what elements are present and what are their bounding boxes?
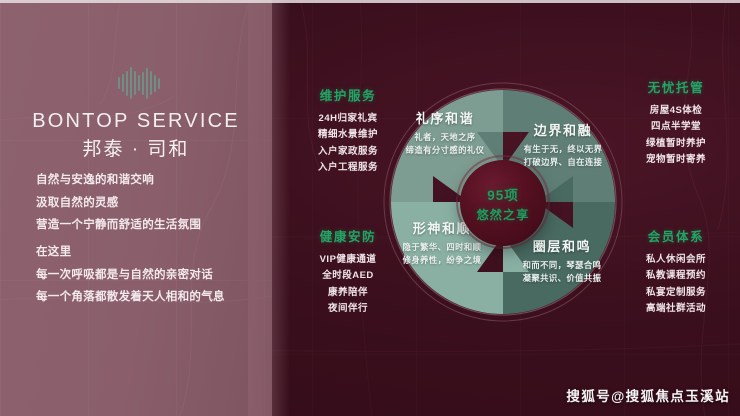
brand-logo-icon <box>118 66 160 100</box>
brand-name-cn: 邦泰 · 司和 <box>0 134 272 161</box>
cluster-membership: 会员体系 私人休闲会所 私教课程预约 私宴定制服务 高端社群活动 <box>617 226 735 317</box>
lead-line: 自然与安逸的和谐交响 <box>36 172 266 189</box>
hub-label: 悠然之享 <box>477 206 530 223</box>
brand-name-en: BONTOP SERVICE <box>0 110 272 133</box>
top-accent-rule <box>0 0 740 3</box>
list-item: 宠物暂时寄养 <box>617 152 735 168</box>
watermark: 搜狐号@搜狐焦点玉溪站 <box>566 385 730 405</box>
hub-count: 95项 <box>487 184 519 204</box>
list-item: 房屋4S体检 <box>617 103 735 119</box>
list-item: 私人休闲会所 <box>617 252 735 268</box>
lead-line: 营造一个宁静而舒适的生活氛围 <box>36 217 266 234</box>
slide-canvas: BONTOP SERVICE 邦泰 · 司和 自然与安逸的和谐交响 汲取自然的灵… <box>0 0 740 416</box>
list-item: 私宴定制服务 <box>617 285 735 301</box>
lead-line: 汲取自然的灵感 <box>36 195 266 212</box>
lead-line: 在这里 <box>36 244 266 261</box>
cluster-worry-free-trust: 无忧托管 房屋4S体检 四点半学堂 绿植暂时养护 宠物暂时寄养 <box>617 77 735 168</box>
cluster-title: 会员体系 <box>617 226 735 245</box>
list-item: 高端社群活动 <box>617 301 735 317</box>
list-item: 私教课程预约 <box>617 268 735 284</box>
lead-line: 每一个角落都散发着天人相和的气息 <box>36 289 266 306</box>
list-item: 绿植暂时养护 <box>617 136 735 152</box>
cluster-title: 无忧托管 <box>617 77 735 96</box>
diagram-hub: 95项 悠然之享 <box>460 160 546 246</box>
list-item: 四点半学堂 <box>617 119 735 135</box>
lead-line: 每一次呼吸都是与自然的亲密对话 <box>36 267 266 284</box>
cluster-list: 私人休闲会所 私教课程预约 私宴定制服务 高端社群活动 <box>617 252 735 317</box>
cluster-list: 房屋4S体检 四点半学堂 绿植暂时养护 宠物暂时寄养 <box>617 103 735 168</box>
lead-paragraph: 自然与安逸的和谐交响 汲取自然的灵感 营造一个宁静而舒适的生活氛围 在这里 每一… <box>36 172 266 312</box>
